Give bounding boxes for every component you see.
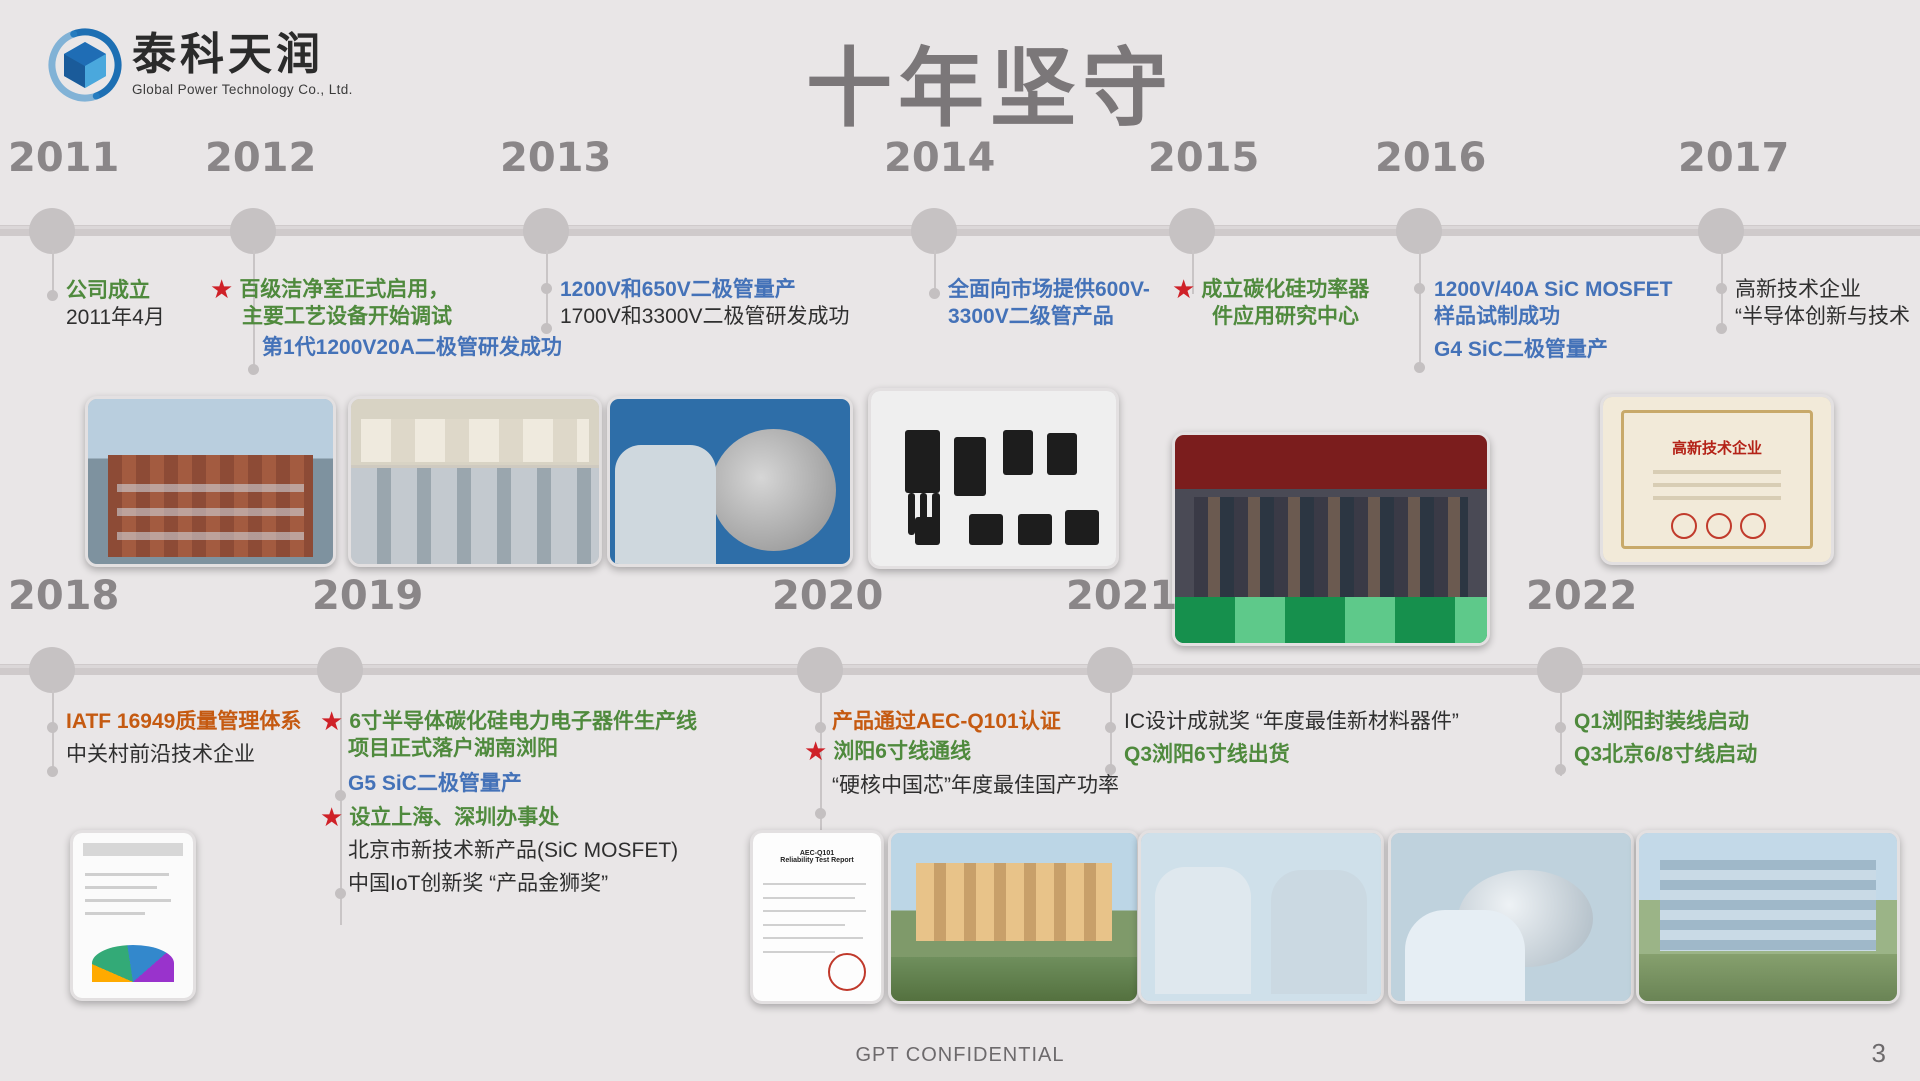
entry-2012: ★ 百级洁净室正式启用， 主要工艺设备开始调试 第1代1200V20A二极管研发… [210,276,562,361]
timeline-node-2019[interactable] [317,647,363,693]
photo-factory-building[interactable] [85,396,336,567]
stem-2011 [52,250,54,294]
entry-2019-line-1: 6寸半导体碳化硅电力电子器件生产线 [349,708,697,735]
entry-2022: Q1浏阳封装线启动 Q3北京6/8寸线启动 [1574,708,1757,769]
entry-2019-line-5: 北京市新技术新产品(SiC MOSFET) [348,837,697,864]
timeline-node-2016[interactable] [1396,208,1442,254]
new-building-photo [1639,833,1897,1001]
year-label-2012: 2012 [205,135,316,181]
page-number: 3 [1872,1038,1886,1069]
milestone-star-icon: ★ [1172,276,1195,302]
timeline-node-2013[interactable] [523,208,569,254]
cleanroom-photo [351,399,599,564]
stem-dot-2018b [47,766,58,777]
entry-2015: ★ 成立碳化硅功率器 件应用研究中心 [1172,276,1369,331]
entry-2014: 全面向市场提供600V- 3300V二级管产品 [948,276,1150,331]
entry-2019-line-2: 项目正式落户湖南浏阳 [348,735,697,762]
entry-2017: 高新技术企业 “半导体创新与技术 [1735,276,1910,331]
photo-cleanroom[interactable] [348,396,602,567]
entry-2022-line-1: Q1浏阳封装线启动 [1574,708,1757,735]
entry-2021-line-2: Q3浏阳6寸线出货 [1124,741,1459,768]
entry-2020: 产品通过AEC-Q101认证 ★ 浏阳6寸线通线 “硬核中国芯”年度最佳国产功率 [832,708,1119,799]
stem-dot-2022a [1555,722,1566,733]
stem-dot-2014 [929,288,940,299]
entry-2020-line-1: 产品通过AEC-Q101认证 [832,708,1119,735]
timeline-node-2020[interactable] [797,647,843,693]
photo-wafer-hand[interactable] [1388,830,1634,1004]
stem-2016 [1419,250,1421,372]
photo-hi-tech-certificate[interactable]: 高新技术企业 [1600,394,1834,565]
timeline-node-2017[interactable] [1698,208,1744,254]
timeline-rail-top-highlight [0,226,1920,229]
stem-dot-2016b [1414,362,1425,373]
entry-2019-line-6: 中国IoT创新奖 “产品金狮奖” [348,870,697,897]
entry-2014-line-1: 全面向市场提供600V- [948,276,1150,303]
timeline-node-2012[interactable] [230,208,276,254]
timeline-node-2021[interactable] [1087,647,1133,693]
entry-2011-line-2: 2011年4月 [66,304,165,331]
photo-discrete-packages[interactable] [868,388,1119,569]
photo-liuyang-plant[interactable] [888,830,1140,1004]
entry-2014-line-2: 3300V二级管产品 [948,303,1150,330]
milestone-star-icon: ★ [804,738,827,764]
year-label-2015: 2015 [1148,135,1259,181]
milestone-star-icon: ★ [210,276,233,302]
entry-2013-line-1: 1200V和650V二极管量产 [560,276,849,303]
timeline-node-2011[interactable] [29,208,75,254]
entry-2015-line-1: 成立碳化硅功率器 [1201,276,1369,303]
wafer-photo [610,399,850,564]
photo-group-team[interactable] [1172,432,1490,646]
year-label-2018: 2018 [8,573,119,619]
building-photo [88,399,333,564]
stem-dot-2017b [1716,323,1727,334]
year-label-2016: 2016 [1375,135,1486,181]
page-title: 十年坚守 [0,18,1920,143]
photo-new-building[interactable] [1636,830,1900,1004]
plant-photo [891,833,1137,1001]
entry-2013: 1200V和650V二极管量产 1700V和3300V二极管研发成功 [560,276,849,331]
stem-dot-2017a [1716,283,1727,294]
stem-dot-2020a [815,722,826,733]
entry-2019-line-4: 设立上海、深圳办事处 [349,804,559,831]
milestone-star-icon: ★ [320,804,343,830]
entry-2017-line-1: 高新技术企业 [1735,276,1910,303]
entry-2016-line-3: G4 SiC二极管量产 [1434,336,1672,363]
entry-2019: ★ 6寸半导体碳化硅电力电子器件生产线 项目正式落户湖南浏阳 G5 SiC二极管… [348,708,697,898]
photo-aec-report[interactable]: AEC-Q101Reliability Test Report [750,830,884,1004]
entry-2016-line-1: 1200V/40A SiC MOSFET [1434,276,1672,303]
entry-2011: 公司成立 2011年4月 [66,277,165,332]
year-label-2022: 2022 [1526,573,1637,619]
stem-dot-2012 [248,364,259,375]
photo-sgs-certificate[interactable] [70,830,196,1001]
entry-2022-line-2: Q3北京6/8寸线启动 [1574,741,1757,768]
stem-dot-2019b [335,888,346,899]
entry-2018-line-1: IATF 16949质量管理体系 [66,708,301,735]
components-photo [871,391,1116,566]
timeline-node-2015[interactable] [1169,208,1215,254]
certificate-photo: 高新技术企业 [1603,397,1831,562]
year-label-2014: 2014 [884,135,995,181]
entry-2011-line-1: 公司成立 [66,277,165,304]
year-label-2013: 2013 [500,135,611,181]
entry-2018-line-2: 中关村前沿技术企业 [66,741,301,768]
timeline-node-2014[interactable] [911,208,957,254]
entry-2018: IATF 16949质量管理体系 中关村前沿技术企业 [66,708,301,769]
entry-2015-line-2: 件应用研究中心 [1212,303,1369,330]
slide-root: 泰科天润 Global Power Technology Co., Ltd. 十… [0,0,1920,1081]
entry-2020-line-2: 浏阳6寸线通线 [833,738,971,765]
entry-2021: IC设计成就奖 “年度最佳新材料器件” Q3浏阳6寸线出货 [1124,708,1459,769]
entry-2019-line-3: G5 SiC二极管量产 [348,770,697,797]
stem-dot-2011 [47,290,58,301]
entry-2021-line-1: IC设计成就奖 “年度最佳新材料器件” [1124,708,1459,735]
entry-2020-line-3: “硬核中国芯”年度最佳国产功率 [832,772,1119,799]
year-label-2021: 2021 [1066,573,1177,619]
timeline-node-2018[interactable] [29,647,75,693]
cleanroom-workers-photo [1141,833,1381,1001]
stem-dot-2020b [815,808,826,819]
entry-2017-line-2: “半导体创新与技术 [1735,303,1910,330]
entry-2016: 1200V/40A SiC MOSFET 样品试制成功 G4 SiC二极管量产 [1434,276,1672,363]
timeline-node-2022[interactable] [1537,647,1583,693]
stem-dot-2022b [1555,764,1566,775]
team-photo [1175,435,1487,643]
wafer-hand-photo [1391,833,1631,1001]
timeline-rail-bottom-highlight [0,665,1920,668]
stem-dot-2016a [1414,283,1425,294]
entry-2012-line-3: 第1代1200V20A二极管研发成功 [262,334,562,361]
entry-2013-line-2: 1700V和3300V二极管研发成功 [560,303,849,330]
photo-wafer-engineer[interactable] [607,396,853,567]
year-label-2011: 2011 [8,135,119,181]
entry-2012-line-2: 主要工艺设备开始调试 [242,303,562,330]
year-label-2019: 2019 [312,573,423,619]
sgs-certificate-photo [73,833,193,998]
footer-confidential: GPT CONFIDENTIAL [0,1044,1920,1067]
milestone-star-icon: ★ [320,708,343,734]
stem-dot-2019a [335,790,346,801]
entry-2016-line-2: 样品试制成功 [1434,303,1672,330]
report-photo: AEC-Q101Reliability Test Report [753,833,881,1001]
photo-cleanroom-workers[interactable] [1138,830,1384,1004]
year-label-2020: 2020 [772,573,883,619]
year-label-2017: 2017 [1678,135,1789,181]
entry-2012-line-1: 百级洁净室正式启用， [239,276,449,303]
stem-dot-2018a [47,722,58,733]
